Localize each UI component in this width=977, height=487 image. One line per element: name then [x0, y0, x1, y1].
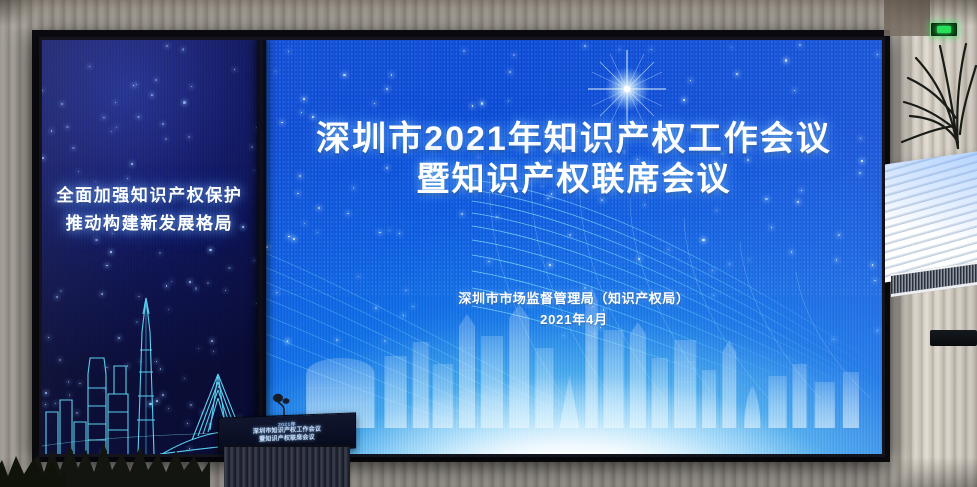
- presentation-headline: 深圳市2021年知识产权工作会议 暨知识产权联席会议: [266, 120, 882, 200]
- screen-main-panel: 深圳市2021年知识产权工作会议 暨知识产权联席会议 深圳市市场监督管理局（知识…: [266, 40, 882, 454]
- exit-sign: [931, 23, 957, 36]
- plant-far-left: [0, 452, 66, 487]
- screen-panel-divider: [257, 40, 266, 454]
- slogan-text: 全面加强知识产权保护 推动构建新发展格局: [42, 182, 257, 237]
- plant-right: [896, 30, 977, 150]
- led-screen: 全面加强知识产权保护 推动构建新发展格局: [39, 37, 885, 457]
- wall-mounted-device: [930, 330, 977, 346]
- slogan-line-1: 全面加强知识产权保护: [42, 182, 257, 210]
- speaker-podium: 2021年 深圳市知识产权工作会议 暨知识产权联席会议: [218, 415, 356, 487]
- title-line-1: 深圳市2021年知识产权工作会议: [266, 120, 882, 159]
- organizer-text: 深圳市市场监督管理局（知识产权局）: [266, 289, 882, 309]
- podium-body: [224, 445, 350, 487]
- horizon-glow: [266, 320, 882, 454]
- exit-icon: [937, 26, 951, 33]
- screen-left-panel: 全面加强知识产权保护 推动构建新发展格局: [42, 40, 257, 454]
- slogan-line-2: 推动构建新发展格局: [42, 210, 257, 238]
- title-line-2: 暨知识产权联席会议: [266, 159, 882, 199]
- ceiling-shadow: [0, 0, 977, 26]
- conference-hall-scene: 全面加强知识产权保护 推动构建新发展格局: [0, 0, 977, 487]
- date-text: 2021年4月: [266, 309, 882, 331]
- presentation-subtitle: 深圳市市场监督管理局（知识产权局） 2021年4月: [266, 289, 882, 331]
- podium-sign-line-2: 暨知识产权联席会议: [259, 435, 315, 445]
